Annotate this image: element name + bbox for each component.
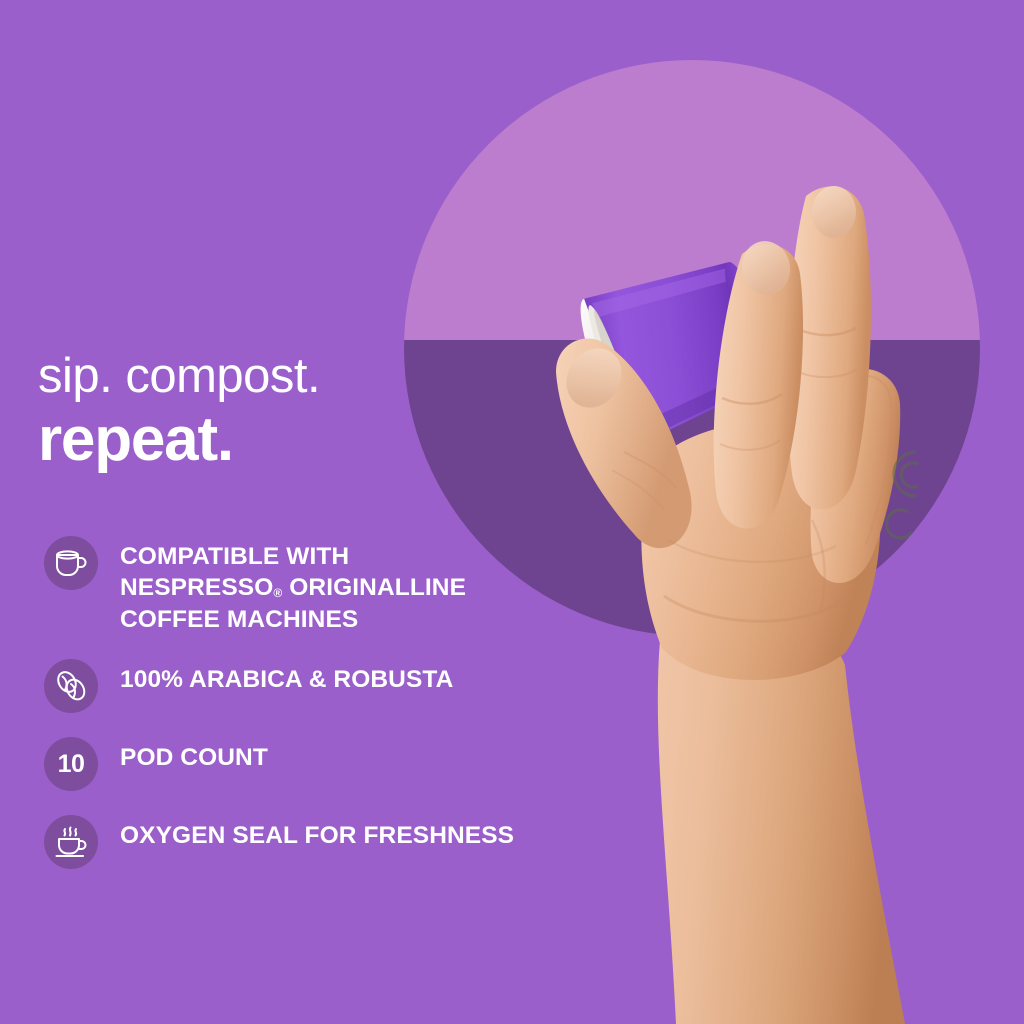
feature-label-freshness: OXYGEN SEAL FOR FRESHNESS — [120, 813, 514, 851]
steaming-cup-icon — [44, 815, 98, 869]
registered-trademark-icon: ® — [273, 586, 282, 600]
headline: sip. compost. repeat. — [38, 352, 320, 472]
feature-label-pod-count: POD COUNT — [120, 735, 268, 773]
feature-item-freshness: OXYGEN SEAL FOR FRESHNESS — [44, 813, 604, 869]
feature-line-1: COMPATIBLE WITH — [120, 543, 349, 570]
coffee-beans-icon — [44, 659, 98, 713]
coffee-cup-icon — [44, 536, 98, 590]
feature-item-beans: 100% ARABICA & ROBUSTA — [44, 657, 604, 713]
circle-light-half — [404, 60, 980, 340]
headline-line-1: sip. compost. — [38, 352, 320, 401]
feature-label-compatibility: COMPATIBLE WITH NESPRESSO® ORIGINALLINE … — [120, 534, 466, 635]
headline-line-2: repeat. — [38, 407, 320, 472]
feature-label-beans: 100% ARABICA & ROBUSTA — [120, 657, 453, 695]
feature-item-pod-count: 10 POD COUNT — [44, 735, 604, 791]
pod-count-value: 10 — [58, 752, 85, 777]
feature-line-3: COFFEE MACHINES — [120, 606, 358, 633]
pod-count-badge: 10 — [44, 737, 98, 791]
product-feature-card: sip. compost. repeat. COMPATIBLE WITH NE… — [0, 0, 1024, 1024]
feature-item-compatibility: COMPATIBLE WITH NESPRESSO® ORIGINALLINE … — [44, 534, 604, 635]
brand-name: NESPRESSO — [120, 574, 273, 601]
feature-list: COMPATIBLE WITH NESPRESSO® ORIGINALLINE … — [44, 534, 604, 869]
